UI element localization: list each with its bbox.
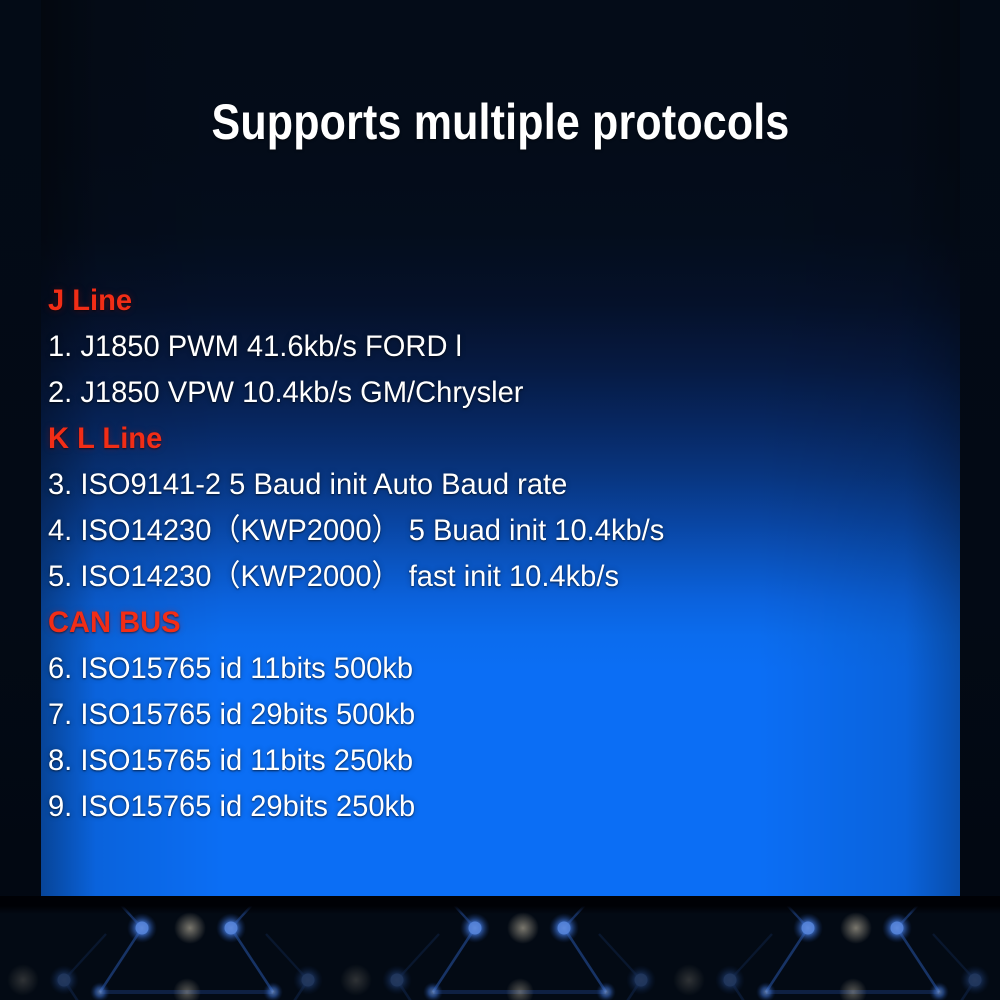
protocol-group-heading: K L Line	[48, 416, 921, 462]
protocol-item: 3. ISO9141-2 5 Baud init Auto Baud rate	[48, 462, 921, 508]
protocol-item: 6. ISO15765 id 11bits 500kb	[48, 646, 921, 692]
protocol-item: 4. ISO14230（KWP2000） 5 Buad init 10.4kb/…	[48, 508, 921, 554]
protocol-item: 8. ISO15765 id 11bits 250kb	[48, 738, 921, 784]
protocol-group-heading: CAN BUS	[48, 600, 921, 646]
hexagon-network-icon	[0, 896, 1000, 1000]
protocol-item: 9. ISO15765 id 29bits 250kb	[48, 784, 921, 830]
protocol-item: 2. J1850 VPW 10.4kb/s GM/Chrysler	[48, 370, 921, 416]
protocol-list: J Line 1. J1850 PWM 41.6kb/s FORD l 2. J…	[48, 278, 948, 830]
protocol-group-heading: J Line	[48, 278, 921, 324]
protocol-item: 1. J1850 PWM 41.6kb/s FORD l	[48, 324, 921, 370]
hexagon-network-footer	[0, 896, 1000, 1000]
protocol-item: 7. ISO15765 id 29bits 500kb	[48, 692, 921, 738]
protocol-item: 5. ISO14230（KWP2000） fast init 10.4kb/s	[48, 554, 921, 600]
promo-graphic: Supports multiple protocols J Line 1. J1…	[0, 0, 1000, 1000]
page-title: Supports multiple protocols	[105, 92, 895, 152]
